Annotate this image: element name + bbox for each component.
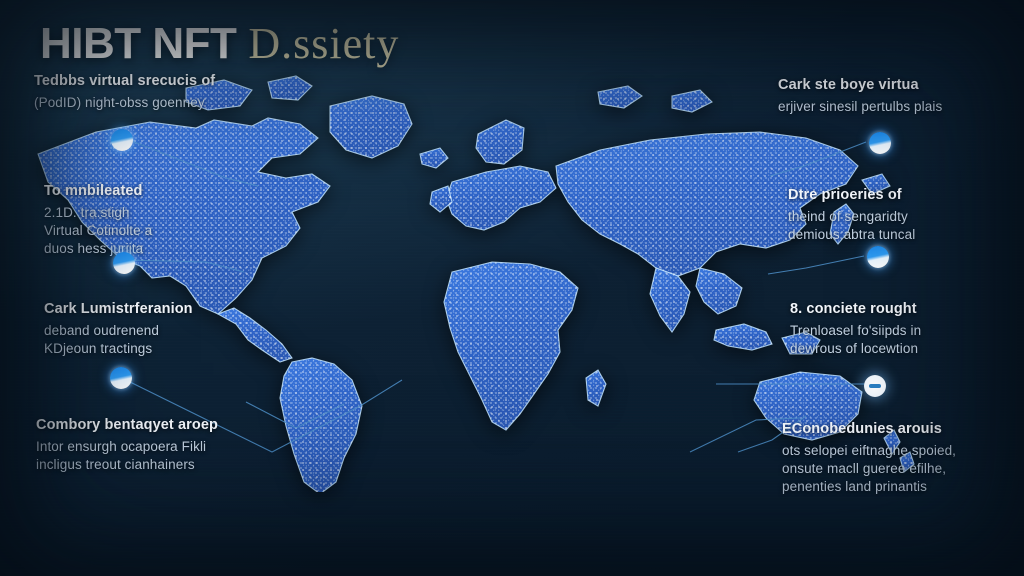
- note-right-4: EConobedunies arouis ots selopei eiftnag…: [782, 420, 1024, 496]
- map-marker-pin-3[interactable]: [110, 367, 132, 389]
- note-line: duos hess jurijta: [44, 240, 294, 258]
- note-heading: Combory bentaqyet aroep: [36, 416, 298, 435]
- infographic-canvas: HIBT NFTD.ssiety Tedbbs virtual srecucis…: [0, 0, 1024, 576]
- map-marker-pin-4[interactable]: [869, 132, 891, 154]
- note-line: KDjeoun tractings: [44, 340, 294, 358]
- note-line: (PodID) night-obss goenney: [34, 94, 284, 112]
- map-marker-pin-5[interactable]: [867, 246, 889, 268]
- note-heading: 8. conciete rought: [790, 300, 1024, 319]
- note-left-3: Cark Lumistrferanion deband oudrenend KD…: [44, 300, 294, 358]
- note-line: Virtual Cotinolte a: [44, 222, 294, 240]
- note-right-1: Cark ste boye virtua erjiver sinesil per…: [778, 76, 1024, 116]
- note-left-2: To mnbileated 2.1D. tra:stigh Virtual Co…: [44, 182, 294, 258]
- note-line: incligus treout cianhainers: [36, 456, 298, 474]
- note-heading: EConobedunies arouis: [782, 420, 1024, 439]
- note-heading: Cark Lumistrferanion: [44, 300, 294, 319]
- note-line: deband oudrenend: [44, 322, 294, 340]
- note-heading: To mnbileated: [44, 182, 294, 201]
- note-heading: Dtre prioeries of: [788, 186, 1024, 205]
- note-line: Intor ensurgh ocapoera Fikli: [36, 438, 298, 456]
- note-line: ots selopei eiftnaghe spoied,: [782, 442, 1024, 460]
- note-right-3: 8. conciete rought Trenloasel fo'siipds …: [790, 300, 1024, 358]
- title-main: HIBT NFT: [40, 19, 236, 68]
- title-accent: D.ssiety: [248, 19, 399, 68]
- map-marker-pin-6[interactable]: [864, 375, 886, 397]
- note-line: Trenloasel fo'siipds in: [790, 322, 1024, 340]
- note-line: erjiver sinesil pertulbs plais: [778, 98, 1024, 116]
- note-line: dewrous of locewtion: [790, 340, 1024, 358]
- note-right-2: Dtre prioeries of theind of sengaridty d…: [788, 186, 1024, 244]
- note-line: 2.1D. tra:stigh: [44, 204, 294, 222]
- note-line: onsute macll gueree efilhe,: [782, 460, 1024, 478]
- note-line: theind of sengaridty: [788, 208, 1024, 226]
- note-heading: Tedbbs virtual srecucis of: [34, 72, 284, 91]
- note-line: penenties land prinantis: [782, 478, 1024, 496]
- note-heading: Cark ste boye virtua: [778, 76, 1024, 95]
- map-marker-pin-2[interactable]: [113, 252, 135, 274]
- note-line: demious abtra tuncal: [788, 226, 1024, 244]
- note-left-1: Tedbbs virtual srecucis of (PodID) night…: [34, 72, 284, 112]
- map-marker-pin-1[interactable]: [111, 129, 133, 151]
- note-left-4: Combory bentaqyet aroep Intor ensurgh oc…: [36, 416, 298, 474]
- page-title: HIBT NFTD.ssiety: [40, 18, 399, 69]
